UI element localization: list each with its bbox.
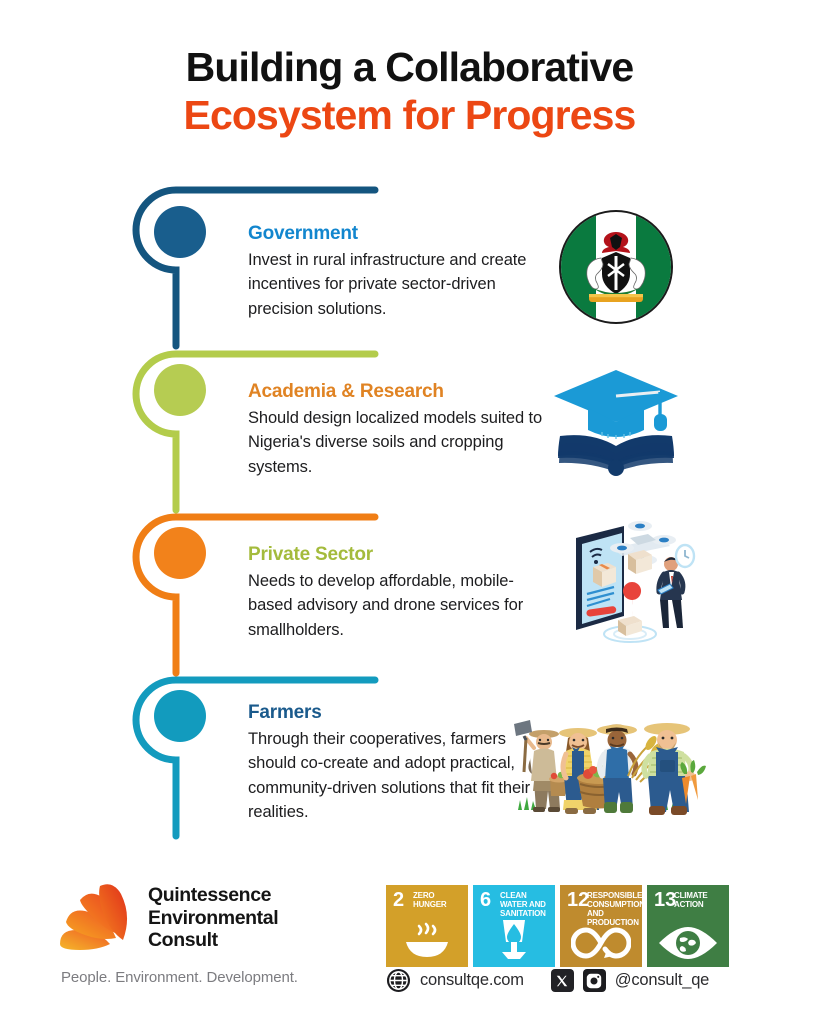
sdg-label: Clean Water and Sanitation <box>500 892 551 919</box>
timeline-node-government <box>154 206 206 258</box>
section-heading-academia-research: Academia & Research <box>248 381 548 403</box>
sdg-badge-row: 2 Zero Hunger 6 Clean Water and Sanitati… <box>386 885 729 967</box>
sdg-badge-2: 2 Zero Hunger <box>386 885 468 967</box>
company-tagline: People. Environment. Development. <box>61 969 298 986</box>
sdg-label: Climate Action <box>674 892 725 910</box>
section-heading-private-sector: Private Sector <box>248 544 548 566</box>
eye-earth-icon <box>647 918 729 960</box>
section-body-academia-research: Should design localized models suited to… <box>248 406 548 479</box>
timeline-node-private-sector <box>154 527 206 579</box>
title-line-2: Ecosystem for Progress <box>0 92 819 140</box>
sdg-number: 12 <box>567 890 589 910</box>
section-heading-government: Government <box>248 223 548 245</box>
infinity-arrow-icon <box>560 918 642 960</box>
water-glass-icon <box>473 918 555 960</box>
company-line-1: Quintessence <box>148 884 278 907</box>
timeline-node-academia-research <box>154 364 206 416</box>
sdg-number: 2 <box>393 890 404 910</box>
section-government: Government Invest in rural infrastructur… <box>248 223 548 321</box>
bowl-of-food-icon <box>386 918 468 960</box>
x-twitter-icon[interactable] <box>551 969 574 992</box>
company-line-3: Consult <box>148 929 278 952</box>
sdg-number: 13 <box>654 890 676 910</box>
drone-delivery-illustration <box>552 512 702 646</box>
company-name: Quintessence Environmental Consult <box>148 884 278 952</box>
infographic-page: Building a Collaborative Ecosystem for P… <box>0 0 819 1024</box>
section-farmers: Farmers Through their cooperatives, farm… <box>248 702 548 824</box>
graduation-cap-book-icon <box>544 364 688 482</box>
section-academia-research: Academia & Research Should design locali… <box>248 381 548 479</box>
sdg-badge-6: 6 Clean Water and Sanitation <box>473 885 555 967</box>
quintessence-logo <box>58 882 134 954</box>
sdg-label: Zero Hunger <box>413 892 464 910</box>
instagram-icon[interactable] <box>583 969 606 992</box>
title-line-1: Building a Collaborative <box>0 44 819 92</box>
sdg-number: 6 <box>480 890 491 910</box>
social-links-row: consultqe.com @consult_qe <box>386 968 709 993</box>
nigeria-coat-of-arms-icon <box>557 208 675 326</box>
section-private-sector: Private Sector Needs to develop affordab… <box>248 544 548 642</box>
section-body-government: Invest in rural infrastructure and creat… <box>248 248 548 321</box>
section-heading-farmers: Farmers <box>248 702 548 724</box>
company-line-2: Environmental <box>148 907 278 930</box>
footer-branding: Quintessence Environmental Consult Peopl… <box>58 882 298 986</box>
sdg-badge-13: 13 Climate Action <box>647 885 729 967</box>
globe-icon <box>386 968 411 993</box>
farmers-group-illustration <box>504 702 710 820</box>
social-handle[interactable]: @consult_qe <box>615 971 709 990</box>
sdg-badge-12: 12 Responsible Consumption and Productio… <box>560 885 642 967</box>
section-body-private-sector: Needs to develop affordable, mobile-base… <box>248 569 548 642</box>
timeline-node-farmers <box>154 690 206 742</box>
section-body-farmers: Through their cooperatives, farmers shou… <box>248 727 548 824</box>
website-link[interactable]: consultqe.com <box>420 971 524 990</box>
page-title: Building a Collaborative Ecosystem for P… <box>0 44 819 139</box>
